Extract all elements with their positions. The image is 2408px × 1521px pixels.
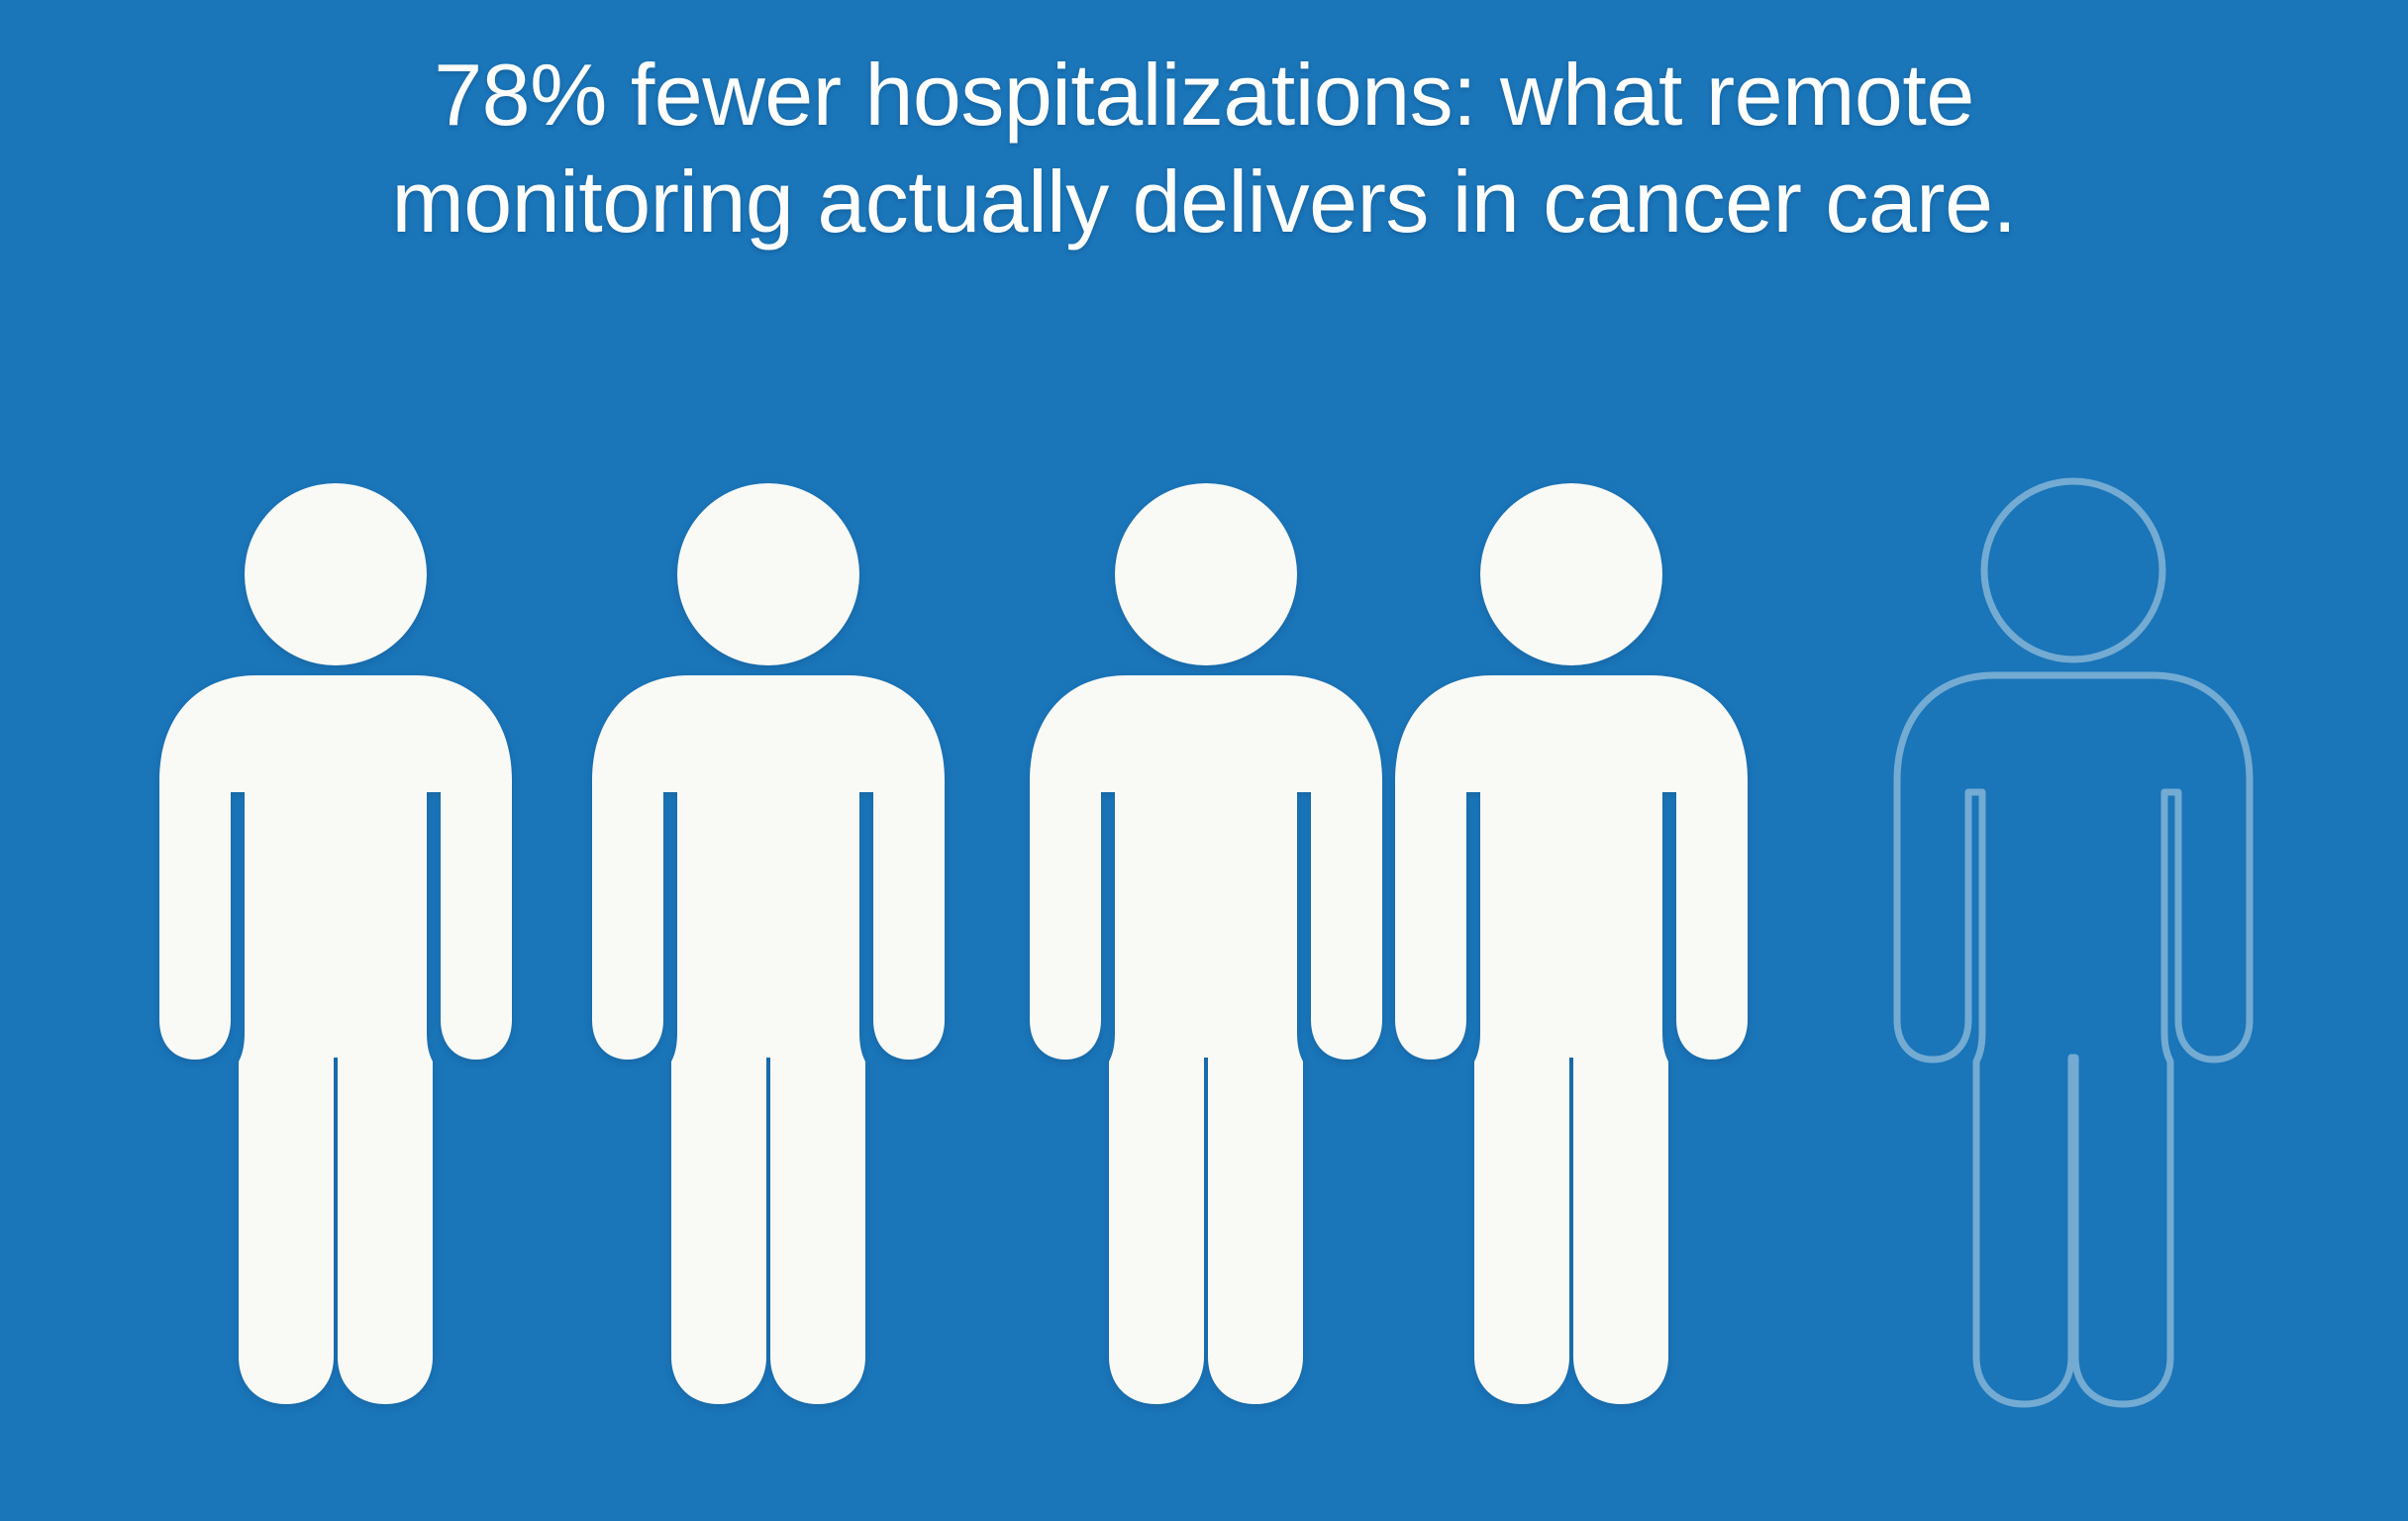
person-figure-icon-1 <box>148 465 524 1426</box>
infographic-canvas: 78% fewer hospitalizations: what remote … <box>0 0 2408 1521</box>
person-figure-icon-3 <box>1018 465 1394 1426</box>
page-title: 78% fewer hospitalizations: what remote … <box>0 42 2408 255</box>
person-figure-icon-4 <box>1383 465 1759 1426</box>
pictogram-figure-row <box>0 465 2408 1436</box>
person-figure-icon-5-outline <box>1885 465 2261 1426</box>
person-figure-icon-2 <box>580 465 956 1426</box>
